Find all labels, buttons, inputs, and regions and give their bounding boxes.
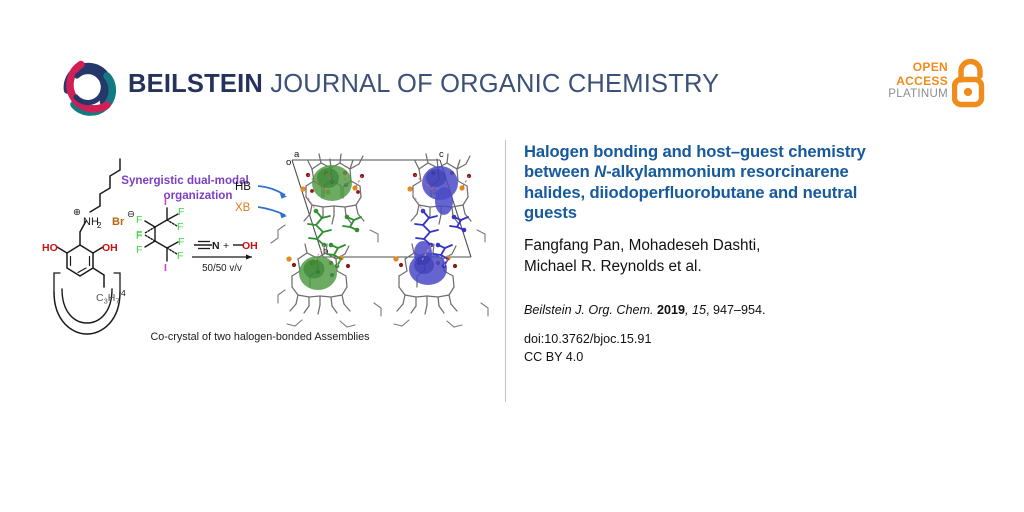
figure-caption: Co-crystal of two halogen-bonded Assembl… bbox=[40, 331, 480, 343]
abstract-headline-line2: organization bbox=[164, 189, 233, 202]
fluorine-label: F bbox=[177, 250, 183, 262]
citation-comma-1: , bbox=[685, 303, 689, 317]
propyl-tail-label: C3H7 bbox=[96, 292, 120, 306]
author-list: Fangfang Pan, Mohadeseh Dashti, Michael … bbox=[524, 235, 970, 277]
author-line-1: Fangfang Pan, Mohadeseh Dashti, bbox=[524, 235, 970, 256]
citation-line: Beilstein J. Org. Chem. 2019, 15, 947–95… bbox=[524, 303, 970, 317]
iodine-label-bottom: I bbox=[164, 262, 167, 274]
fluorine-label: F bbox=[136, 244, 142, 256]
open-access-badge: OPEN ACCESS PLATINUM bbox=[886, 58, 990, 116]
citation-year: 2019 bbox=[657, 303, 685, 317]
hydroxyl-left-label: HO bbox=[42, 242, 58, 254]
open-lock-icon bbox=[952, 58, 990, 108]
open-access-line3: PLATINUM bbox=[886, 88, 948, 102]
fluorine-label: F bbox=[178, 236, 184, 248]
blue-cavity-core-bottom bbox=[414, 256, 434, 274]
article-title-line3: halides, diiodoperfluorobutane and neutr… bbox=[524, 183, 857, 202]
abstract-headline-line1: Synergistic dual-modal bbox=[121, 174, 249, 187]
ammonium-charge-label: ⊕ bbox=[73, 207, 81, 218]
fluorine-label: F bbox=[178, 206, 184, 218]
fluorine-label: F bbox=[177, 221, 183, 233]
hb-pointer-arrow bbox=[258, 186, 287, 199]
fluorine-label: F bbox=[136, 230, 142, 242]
journal-header: BEILSTEIN JOURNAL OF ORGANIC CHEMISTRY O… bbox=[0, 0, 1024, 130]
hb-label: HB bbox=[235, 181, 251, 193]
iodine-label-top: I bbox=[164, 196, 167, 208]
bromide-label: Br bbox=[112, 216, 125, 228]
nitrile-label: N bbox=[212, 240, 220, 252]
doi-license-block: doi:10.3762/bjoc.15.91 CC BY 4.0 bbox=[524, 330, 970, 367]
open-access-text: OPEN ACCESS PLATINUM bbox=[886, 61, 948, 102]
blue-cavity-core-top bbox=[426, 169, 446, 187]
blue-cavity-lobe-top bbox=[435, 187, 453, 215]
article-title-italic-n: N bbox=[594, 162, 606, 181]
beilstein-spiral-logo-icon bbox=[57, 56, 119, 118]
journal-brand: BEILSTEIN bbox=[128, 70, 263, 98]
article-metadata-column: Halogen bonding and host–guest chemistry… bbox=[524, 142, 970, 367]
hydroxyl-right-label: OH bbox=[102, 242, 118, 254]
article-title-line2-pre: between bbox=[524, 162, 594, 181]
xb-pointer-arrow bbox=[258, 207, 287, 218]
fluorine-label: F bbox=[136, 214, 142, 226]
article-title: Halogen bonding and host–guest chemistry… bbox=[524, 142, 970, 224]
license-text[interactable]: CC BY 4.0 bbox=[524, 348, 970, 367]
ammonium-subscript: 2 bbox=[97, 221, 102, 230]
diiodoperfluorobutane-structure bbox=[145, 208, 178, 261]
xb-label: XB bbox=[235, 202, 251, 214]
alcohol-label: OH bbox=[242, 240, 258, 252]
article-title-line4: guests bbox=[524, 203, 577, 222]
citation-comma-2: , bbox=[706, 303, 710, 317]
axis-label-c: c bbox=[439, 149, 444, 160]
plus-sign: + bbox=[223, 240, 229, 252]
reaction-arrow: N + OH 50/50 v/v bbox=[192, 240, 258, 274]
crystal-structure-panel: o a b c bbox=[271, 149, 488, 327]
solvent-ratio-label: 50/50 v/v bbox=[202, 263, 242, 274]
green-cavity-core-bottom bbox=[304, 260, 325, 279]
axis-label-origin: o bbox=[286, 157, 291, 168]
article-cover-page: BEILSTEIN JOURNAL OF ORGANIC CHEMISTRY O… bbox=[0, 0, 1024, 512]
repeat-subscript-label: 4 bbox=[121, 288, 126, 298]
journal-title: BEILSTEIN JOURNAL OF ORGANIC CHEMISTRY bbox=[128, 70, 719, 99]
article-title-line2-post: -alkylammonium resorcinarene bbox=[606, 162, 849, 181]
axis-label-a: a bbox=[294, 149, 300, 160]
bromide-charge-label: ⊖ bbox=[127, 209, 135, 220]
citation-volume: 15 bbox=[692, 303, 706, 317]
open-access-line1: OPEN bbox=[886, 61, 948, 75]
doi-text[interactable]: doi:10.3762/bjoc.15.91 bbox=[524, 330, 970, 349]
article-title-line1: Halogen bonding and host–guest chemistry bbox=[524, 142, 866, 161]
citation-pages: 947–954. bbox=[713, 303, 766, 317]
journal-subtitle: JOURNAL OF ORGANIC CHEMISTRY bbox=[263, 70, 719, 98]
fluorine-labels: F F F F F F F F bbox=[136, 206, 184, 262]
citation-journal: Beilstein J. Org. Chem. bbox=[524, 303, 653, 317]
author-line-2: Michael R. Reynolds et al. bbox=[524, 256, 970, 277]
open-access-line2: ACCESS bbox=[886, 75, 948, 89]
